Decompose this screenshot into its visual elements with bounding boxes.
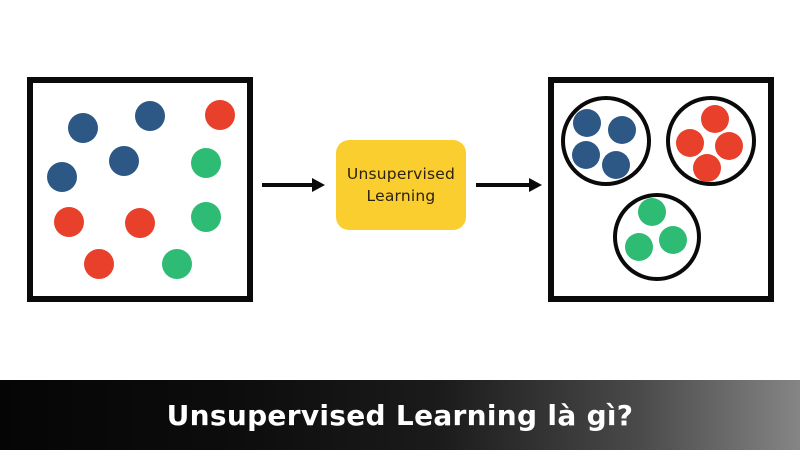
data-point-green: [191, 148, 221, 178]
data-point-blue: [109, 146, 139, 176]
arrow-input-to-process: [262, 175, 325, 195]
data-point-blue: [608, 116, 636, 144]
data-point-red: [715, 132, 743, 160]
caption-banner: Unsupervised Learning là gì?: [0, 380, 800, 450]
data-point-red: [84, 249, 114, 279]
diagram-canvas: Unsupervised Learning: [0, 0, 800, 380]
data-point-red: [205, 100, 235, 130]
data-point-blue: [572, 141, 600, 169]
data-point-red: [693, 154, 721, 182]
data-point-blue: [135, 101, 165, 131]
diagram-stage: Unsupervised Learning Unsupervised Learn…: [0, 0, 800, 450]
unsupervised-learning-node[interactable]: Unsupervised Learning: [336, 140, 466, 230]
data-point-green: [191, 202, 221, 232]
data-point-red: [676, 129, 704, 157]
data-point-green: [638, 198, 666, 226]
data-point-green: [625, 233, 653, 261]
caption-title: Unsupervised Learning là gì?: [167, 399, 634, 432]
arrow-process-to-output: [476, 175, 542, 195]
data-point-blue: [47, 162, 77, 192]
data-point-red: [125, 208, 155, 238]
data-point-blue: [68, 113, 98, 143]
data-point-green: [162, 249, 192, 279]
unsupervised-learning-label: Unsupervised Learning: [341, 163, 461, 208]
data-point-green: [659, 226, 687, 254]
data-point-blue: [602, 151, 630, 179]
data-point-blue: [573, 109, 601, 137]
data-point-red: [54, 207, 84, 237]
data-point-red: [701, 105, 729, 133]
